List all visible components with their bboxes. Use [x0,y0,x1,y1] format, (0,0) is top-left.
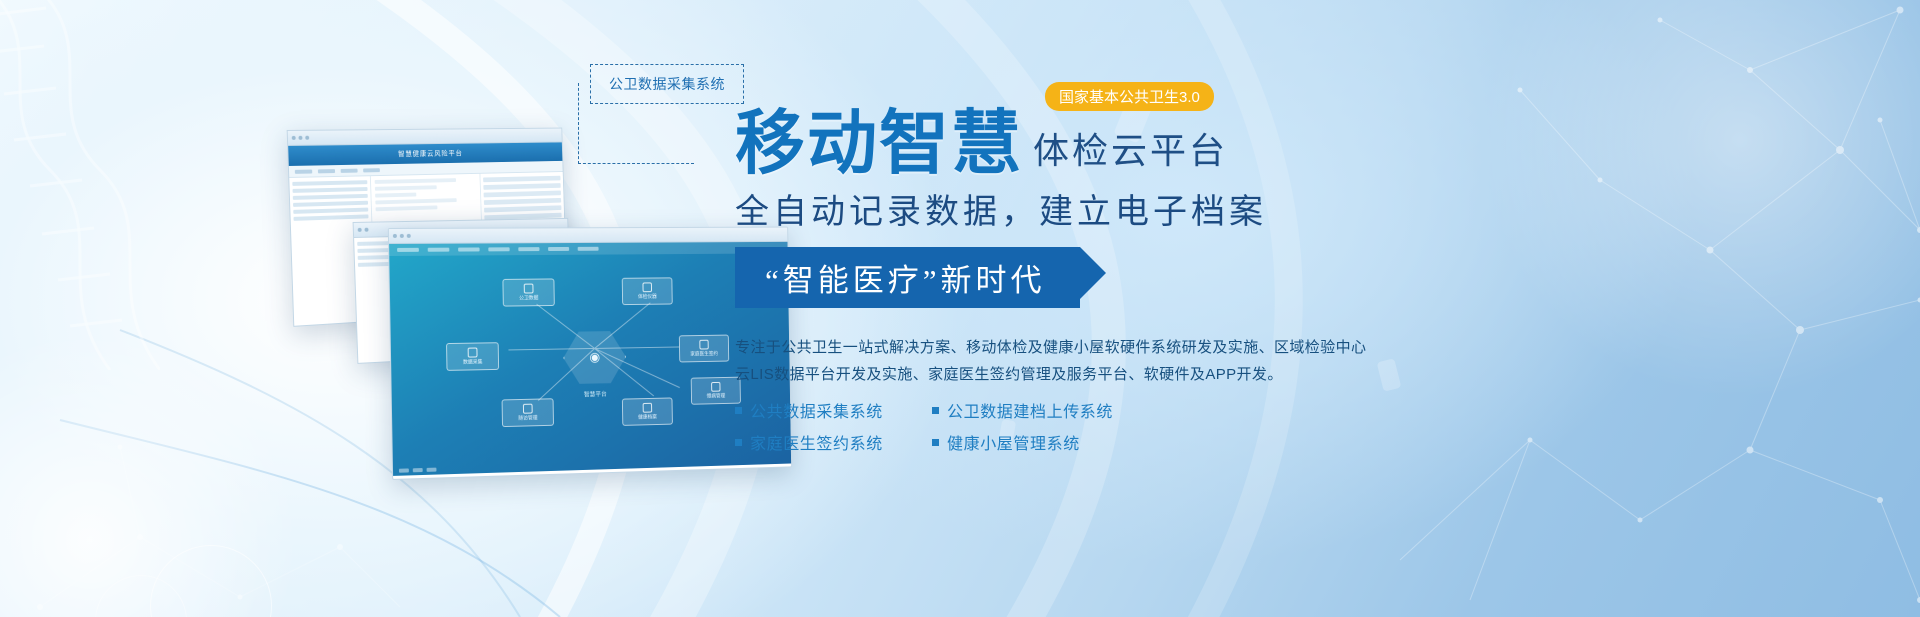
node-label: 公卫数据 [519,294,538,301]
glow-circle-right [1480,0,1920,400]
paragraph-line: 云LIS数据平台开发及实施、家庭医生签约管理及服务平台、软硬件及APP开发。 [735,361,1535,388]
sidebar-line [293,194,368,200]
window-dot [393,234,397,238]
feature-item[interactable]: 公卫数据建档上传系统 [932,398,1113,422]
toolbar-item [295,169,312,173]
feature-label: 健康小屋管理系统 [947,430,1080,454]
dashboard-node[interactable]: 慢病管理 [691,377,741,405]
panel-line [484,205,562,212]
bullet-square-icon [735,439,742,446]
dashboard-node[interactable]: 家庭医生签约 [679,335,729,363]
node-icon [642,282,652,292]
dashboard-node[interactable]: 数据采集 [446,342,499,371]
node-icon [524,284,534,294]
window-dot [298,136,302,140]
ring-decoration-1 [150,545,272,617]
content-line [376,205,437,211]
status-badge: 国家基本公共卫生3.0 [1045,82,1214,111]
feature-item[interactable]: 健康小屋管理系统 [932,430,1080,454]
headline-second-line: 全自动记录数据，建立电子档案 [735,184,1535,233]
dashboard-node[interactable]: 健康档案 [622,397,673,425]
footer-item [427,468,437,472]
feature-list: 公共数据采集系统 公卫数据建档上传系统 家庭医生签约系统 健康小屋管理系统 [735,398,1535,454]
dashboard-nodes: 公卫数据 体检仪器 数据采集 家庭医生签约 [389,242,791,476]
feature-label: 家庭医生签约系统 [750,430,883,454]
hexagon-glyph: ◉ [589,349,600,365]
footer-item [399,468,409,472]
content-line [375,185,436,190]
window-dot [407,234,411,238]
feature-label: 公共数据采集系统 [750,398,883,422]
headline-main: 移动智慧 [735,108,1023,178]
sidebar-line [293,187,368,193]
bullet-square-icon [735,407,742,414]
node-label: 随访管理 [518,414,537,421]
window-dot [292,136,296,140]
dashboard-canvas: 公卫数据 体检仪器 数据采集 家庭医生签约 [389,242,791,476]
screenshot-window-front: 公卫数据 体检仪器 数据采集 家庭医生签约 [388,227,792,480]
window-dot [400,234,404,238]
ribbon-banner: “智能医疗”新时代 [735,247,1080,308]
ribbon-label: “智能医疗”新时代 [765,263,1046,298]
feature-item[interactable]: 公共数据采集系统 [735,398,910,422]
dashboard-node[interactable]: 公卫数据 [502,278,554,306]
sidebar-line [293,201,368,207]
dashboard-node[interactable]: 体检仪器 [622,277,673,305]
dashboard-center-hexagon: ◉ [563,329,626,387]
description-paragraph: 专注于公共卫生一站式解决方案、移动体检及健康小屋软硬件系统研发及实施、区域检验中… [735,334,1535,388]
bullet-square-icon [932,439,939,446]
footer-item [413,468,423,472]
feature-row: 家庭医生签约系统 健康小屋管理系统 [735,430,1535,454]
panel-line [483,191,561,198]
node-label: 健康档案 [638,413,657,420]
dna-helix-icon [0,0,160,370]
banner-copy: 移动智慧 体检云平台 国家基本公共卫生3.0 全自动记录数据，建立电子档案 “智… [735,108,1535,462]
bullet-square-icon [932,407,939,414]
headline-row: 移动智慧 体检云平台 国家基本公共卫生3.0 [735,108,1535,178]
node-icon [523,404,533,414]
paragraph-line: 专注于公共卫生一站式解决方案、移动体检及健康小屋软硬件系统研发及实施、区域检验中… [735,334,1535,361]
window-dot [305,136,309,140]
ring-decoration-2 [95,575,187,617]
content-line [375,193,416,198]
content-line [376,198,457,204]
callout-label: 公卫数据采集系统 [609,74,725,94]
sidebar-line [292,180,367,186]
callout-box: 公卫数据采集系统 [590,64,744,104]
node-icon [699,340,708,350]
window-header-title: 智慧健康云风险平台 [398,148,463,159]
product-screenshot-group: 智慧健康云风险平台 [280,110,750,470]
dashboard-center-label: 智慧平台 [584,389,607,398]
toolbar-item [363,168,380,172]
sidebar-line [293,214,368,220]
panel-line [483,183,561,190]
node-label: 体检仪器 [638,293,657,300]
node-icon [643,403,653,413]
window-dot [358,228,362,232]
node-label: 慢病管理 [707,392,726,399]
toolbar-item [318,169,335,173]
node-icon [711,382,720,392]
feature-item[interactable]: 家庭医生签约系统 [735,430,910,454]
node-icon [468,348,478,358]
feature-row: 公共数据采集系统 公卫数据建档上传系统 [735,398,1535,422]
dashboard-node[interactable]: 随访管理 [502,398,554,427]
feature-label: 公卫数据建档上传系统 [947,398,1113,422]
panel-line [483,176,561,183]
headline-suffix: 体检云平台 [1033,122,1228,178]
promo-banner: 智慧健康云风险平台 [0,0,1920,617]
content-line [375,178,456,184]
node-label: 数据采集 [463,358,483,365]
sidebar-line [293,208,368,214]
panel-line [483,198,561,205]
toolbar-item [341,168,358,172]
window-dot [364,228,368,232]
glow-circle-left [0,330,300,617]
node-label: 家庭医生签约 [690,350,718,357]
